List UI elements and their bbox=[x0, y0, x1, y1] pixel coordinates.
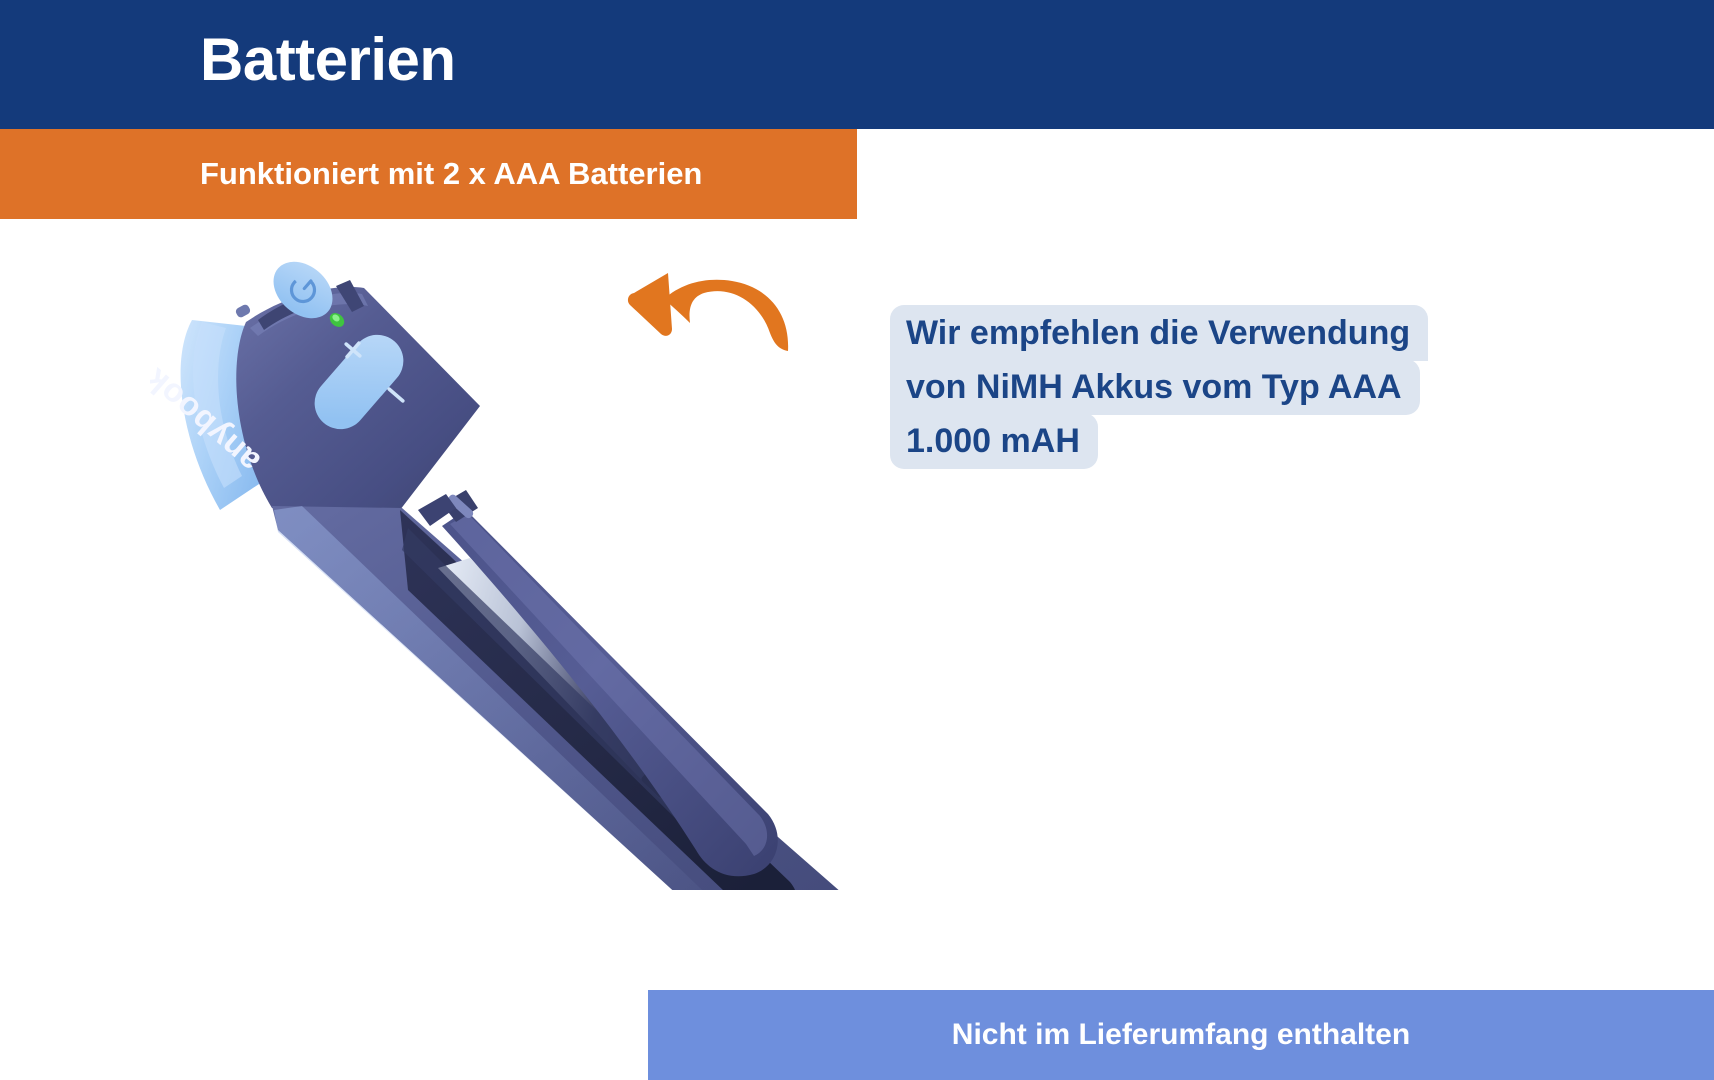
slide-canvas: Batterien Funktioniert mit 2 x AAA Batte… bbox=[0, 0, 1714, 1080]
callout-line-2: von NiMH Akkus vom Typ AAA bbox=[890, 359, 1420, 415]
pointer-arrow bbox=[620, 255, 820, 360]
recommendation-callout: Wir empfehlen die Verwendung von NiMH Ak… bbox=[890, 305, 1530, 469]
footer-banner-text: Nicht im Lieferumfang enthalten bbox=[648, 990, 1714, 1080]
callout-line-1: Wir empfehlen die Verwendung bbox=[890, 305, 1428, 361]
callout-line-3: 1.000 mAH bbox=[890, 413, 1098, 469]
subtitle-text: Funktioniert mit 2 x AAA Batterien bbox=[200, 145, 702, 203]
curved-arrow-down-left-icon bbox=[628, 273, 788, 351]
page-title: Batterien bbox=[200, 30, 456, 90]
footer-banner: Nicht im Lieferumfang enthalten bbox=[648, 990, 1714, 1080]
